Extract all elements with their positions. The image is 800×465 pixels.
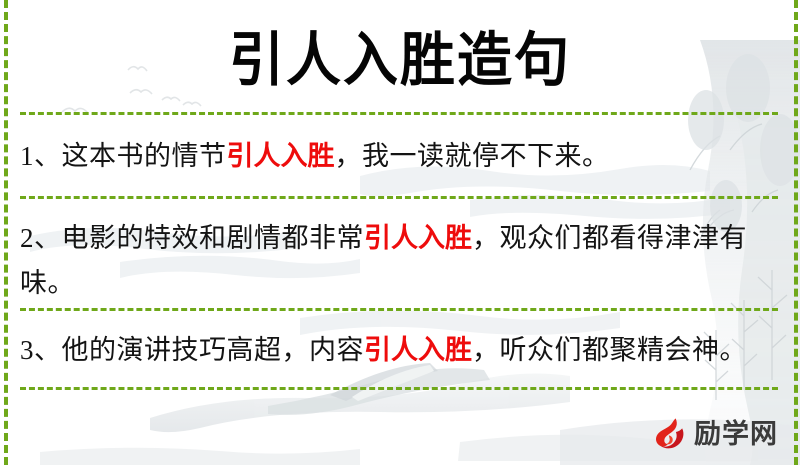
sentence-3-number: 3、 <box>20 335 62 365</box>
sentence-1-idiom: 引人入胜 <box>227 141 335 172</box>
sentence-item-1: 1、这本书的情节引人入胜，我一读就停不下来。 <box>20 134 778 179</box>
frame-border-right <box>794 0 798 465</box>
sentence-1-text-after: ，我一读就停不下来。 <box>335 141 610 171</box>
site-logo-text: 励学网 <box>694 421 778 448</box>
divider-below-title <box>20 112 778 115</box>
sentence-2-text-before: 电影的特效和剧情都非常 <box>62 223 365 253</box>
sentence-1-number: 1、 <box>20 141 62 171</box>
page-title: 引人入胜造句 <box>229 29 571 90</box>
divider-below-sentence-2 <box>20 308 778 311</box>
divider-below-sentence-1 <box>20 196 778 199</box>
sentence-3-text-before: 他的演讲技巧高超，内容 <box>62 335 365 365</box>
sentence-1-text-before: 这本书的情节 <box>62 141 227 171</box>
site-logo[interactable]: 励学网 <box>651 413 778 455</box>
sentence-3-idiom: 引人入胜 <box>364 335 472 366</box>
sentence-item-2: 2、电影的特效和剧情都非常引人入胜，观众们都看得津津有味。 <box>20 216 778 306</box>
worksheet-page: 引人入胜造句 1、这本书的情节引人入胜，我一读就停不下来。 2、电影的特效和剧情… <box>0 0 800 465</box>
sentence-3-text-after: ，听众们都聚精会神。 <box>472 335 747 365</box>
red-swirl-flame-icon <box>651 416 687 452</box>
sentence-2-idiom: 引人入胜 <box>364 223 472 254</box>
sentence-2-number: 2、 <box>20 223 62 253</box>
title-band: 引人入胜造句 <box>0 18 800 102</box>
frame-border-left <box>4 0 8 465</box>
sentence-item-3: 3、他的演讲技巧高超，内容引人入胜，听众们都聚精会神。 <box>20 328 778 373</box>
divider-below-sentence-3 <box>20 387 778 390</box>
